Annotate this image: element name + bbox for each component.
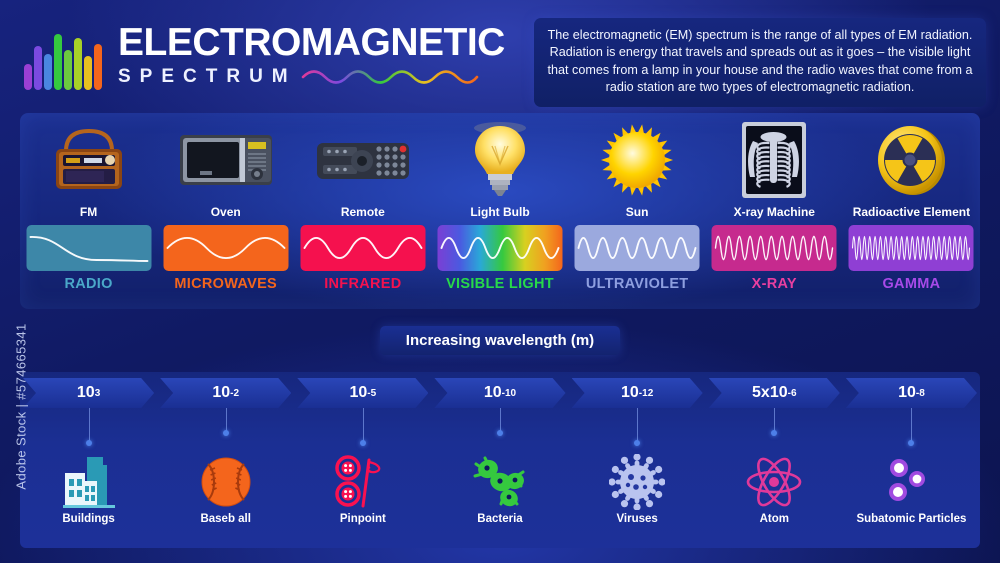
equalizer-bar <box>24 64 32 90</box>
scale-label: Bacteria <box>431 512 568 526</box>
spectrum-column-gamma: Radioactive Element GAMMA <box>843 113 980 309</box>
scale-label: Atom <box>706 512 843 526</box>
remote-icon <box>294 121 431 199</box>
spectrum-column-radio: FM RADIO <box>20 113 157 309</box>
scale-panel: 103 Buildings10-2 Baseb all10-5 <box>20 372 980 548</box>
device-label: Sun <box>569 205 706 219</box>
description-panel: The electromagnetic (EM) spectrum is the… <box>534 18 986 107</box>
band-label: INFRARED <box>294 276 431 292</box>
spectrum-column-infrared: Remote INFRARED <box>294 113 431 309</box>
brand-text: ELECTROMAGNETIC SPECTRUM <box>118 22 505 88</box>
scale-label: Buildings <box>20 512 157 526</box>
spectrum-panel: FM RADIO Oven MICROWAVES Remote INFRARED <box>20 113 980 309</box>
lightbulb-icon <box>431 121 568 199</box>
band-label: GAMMA <box>843 276 980 292</box>
band-label: VISIBLE LIGHT <box>431 276 568 292</box>
rainbow-wave-icon <box>301 66 479 88</box>
band-label: ULTRAVIOLET <box>569 276 706 292</box>
scale-label: Baseb all <box>157 512 294 526</box>
spectrum-column-visible-light: Light Bulb VISIBLE LIGHT <box>431 113 568 309</box>
bacteria-icon <box>431 454 568 510</box>
title-sub: SPECTRUM <box>118 66 297 88</box>
atom-icon <box>706 454 843 510</box>
waveform-microwaves <box>163 225 288 271</box>
baseball-icon <box>157 454 294 510</box>
waveform-gamma <box>849 225 974 271</box>
sun-icon <box>569 121 706 199</box>
spectrum-column-microwaves: Oven MICROWAVES <box>157 113 294 309</box>
device-label: FM <box>20 205 157 219</box>
band-label: RADIO <box>20 276 157 292</box>
spectrum-column-ultraviolet: Sun ULTRAVIOLET <box>569 113 706 309</box>
equalizer-bar <box>74 38 82 90</box>
scale-column-buildings: Buildings <box>20 372 157 548</box>
waveform-radio <box>26 225 151 271</box>
infographic-poster: ELECTROMAGNETIC SPECTRUM <box>0 0 1000 563</box>
logo: ELECTROMAGNETIC SPECTRUM <box>24 22 505 90</box>
scale-label: Viruses <box>569 512 706 526</box>
radio-icon <box>20 121 157 199</box>
scale-column-baseb-all: Baseb all <box>157 372 294 548</box>
pinpoint-needle-icon <box>294 454 431 510</box>
wavelength-banner: Increasing wavelength (m) <box>380 326 620 355</box>
equalizer-bar <box>94 44 102 90</box>
waveform-infrared <box>300 225 425 271</box>
subatomic-particles-icon <box>843 454 980 510</box>
watermark-credit: Adobe Stock | #574665341 <box>14 267 29 547</box>
scale-column-bacteria: Bacteria <box>431 372 568 548</box>
equalizer-bar <box>44 54 52 90</box>
scale-column-pinpoint: Pinpoint <box>294 372 431 548</box>
header: ELECTROMAGNETIC SPECTRUM <box>0 0 1000 108</box>
scale-label: Pinpoint <box>294 512 431 526</box>
waveform-x-ray <box>712 225 837 271</box>
equalizer-bars-icon <box>24 28 106 90</box>
device-label: Light Bulb <box>431 205 568 219</box>
band-label: X-RAY <box>706 276 843 292</box>
equalizer-bar <box>54 34 62 90</box>
device-label: X-ray Machine <box>706 205 843 219</box>
title-main: ELECTROMAGNETIC <box>118 22 505 64</box>
scale-column-atom: Atom <box>706 372 843 548</box>
buildings-icon <box>20 454 157 510</box>
spectrum-column-x-ray: X-ray Machine X-RAY <box>706 113 843 309</box>
band-label: MICROWAVES <box>157 276 294 292</box>
device-label: Radioactive Element <box>843 205 980 219</box>
microwave-icon <box>157 121 294 199</box>
device-label: Oven <box>157 205 294 219</box>
xray-machine-icon <box>706 121 843 199</box>
waveform-ultraviolet <box>575 225 700 271</box>
scale-column-subatomic-particles: Subatomic Particles <box>843 372 980 548</box>
device-label: Remote <box>294 205 431 219</box>
equalizer-bar <box>84 56 92 90</box>
scale-label: Subatomic Particles <box>843 512 980 526</box>
waveform-visible-light <box>437 225 562 271</box>
scale-column-viruses: Viruses <box>569 372 706 548</box>
virus-icon <box>569 454 706 510</box>
radioactive-icon <box>843 121 980 199</box>
